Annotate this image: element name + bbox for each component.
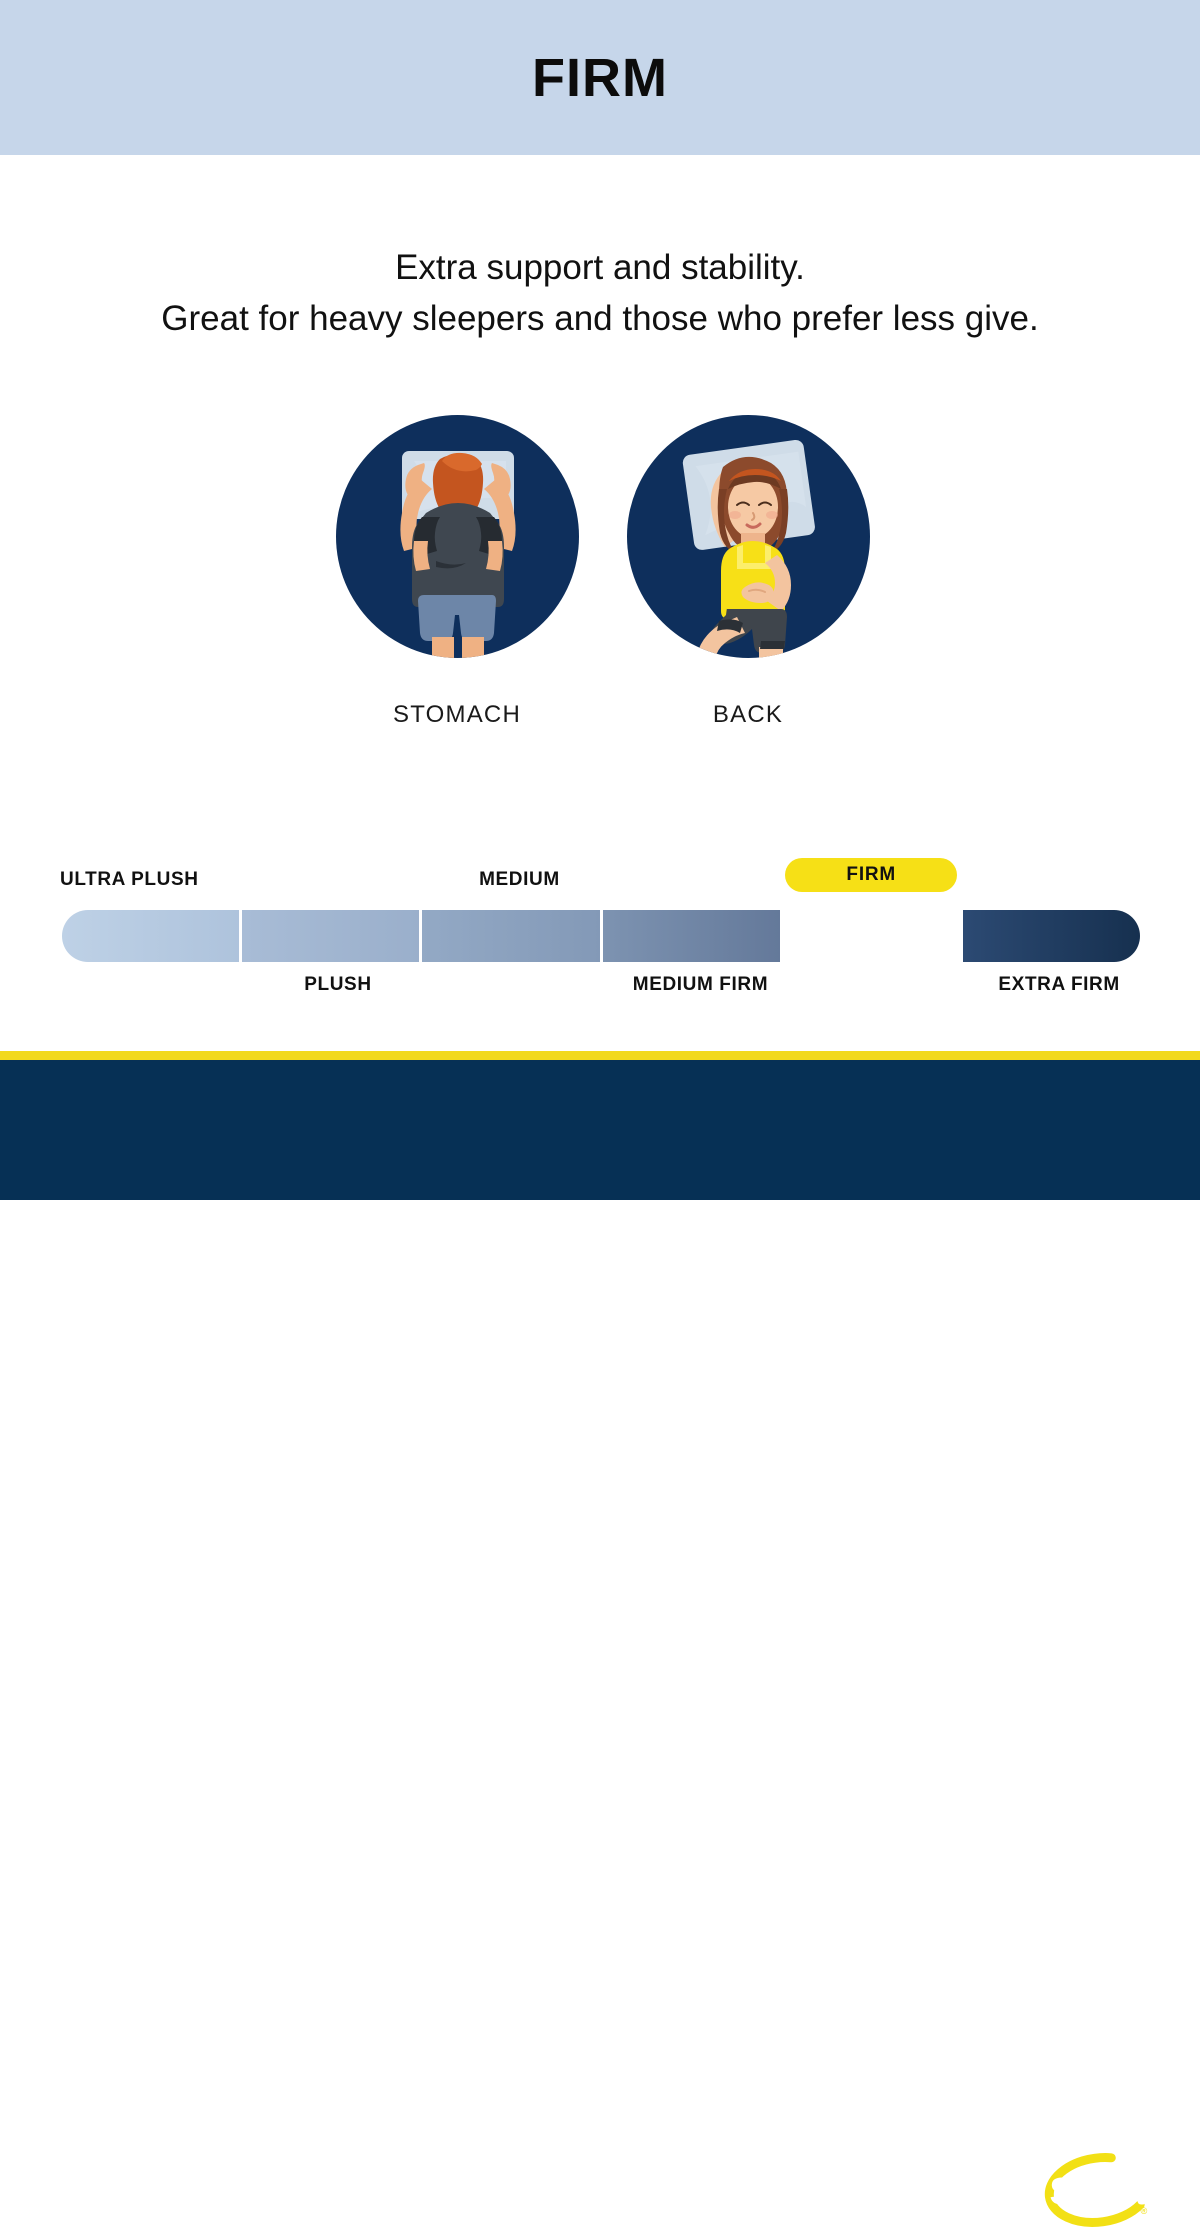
firmness-segment-plush[interactable] xyxy=(242,910,419,962)
sleep-position-label-back: BACK xyxy=(598,701,898,729)
man-on-stomach-icon xyxy=(336,415,579,658)
firmness-segment-medium-firm[interactable] xyxy=(603,910,780,962)
back-sleeper-illustration xyxy=(627,415,870,658)
serta-wordmark: Serta xyxy=(1049,2171,1145,2213)
sleep-position-illustrations: STOMACH xyxy=(0,415,1200,745)
firmness-label-medium: MEDIUM xyxy=(479,869,560,891)
firmness-label-ultra-plush: ULTRA PLUSH xyxy=(60,869,199,891)
trademark-mark: ® xyxy=(1141,2206,1148,2216)
footer-accent-stripe xyxy=(0,1051,1200,1060)
firmness-label-extra-firm: EXTRA FIRM xyxy=(998,974,1119,996)
firmness-segment-medium[interactable] xyxy=(422,910,599,962)
subtitle-line-2: Great for heavy sleepers and those who p… xyxy=(0,294,1200,345)
page-title: FIRM xyxy=(532,51,668,105)
serta-logo: Serta ® xyxy=(1040,2148,1158,2232)
stomach-sleeper-illustration xyxy=(336,415,579,658)
subtitle-line-1: Extra support and stability. xyxy=(0,243,1200,294)
firmness-label-plush: PLUSH xyxy=(304,974,371,996)
woman-on-back-icon xyxy=(627,415,870,658)
subtitle-block: Extra support and stability. Great for h… xyxy=(0,243,1200,345)
sleep-position-stomach: STOMACH xyxy=(307,415,607,729)
firmness-label-medium-firm: MEDIUM FIRM xyxy=(633,974,768,996)
header-band: FIRM xyxy=(0,0,1200,155)
firmness-label-selected-firm[interactable]: FIRM xyxy=(785,858,957,892)
firmness-segment-firm[interactable] xyxy=(783,910,960,962)
sleep-position-label-stomach: STOMACH xyxy=(307,701,607,729)
footer-band: Serta ® xyxy=(0,1060,1200,1200)
firmness-scale: ULTRA PLUSHPLUSHMEDIUMMEDIUM FIRMFIRMEXT… xyxy=(0,855,1200,1010)
firmness-segment-extra-firm[interactable] xyxy=(963,910,1140,962)
sleep-position-back: BACK xyxy=(598,415,898,729)
firmness-segment-ultra-plush[interactable] xyxy=(62,910,239,962)
firmness-scale-bar[interactable] xyxy=(62,910,1140,962)
